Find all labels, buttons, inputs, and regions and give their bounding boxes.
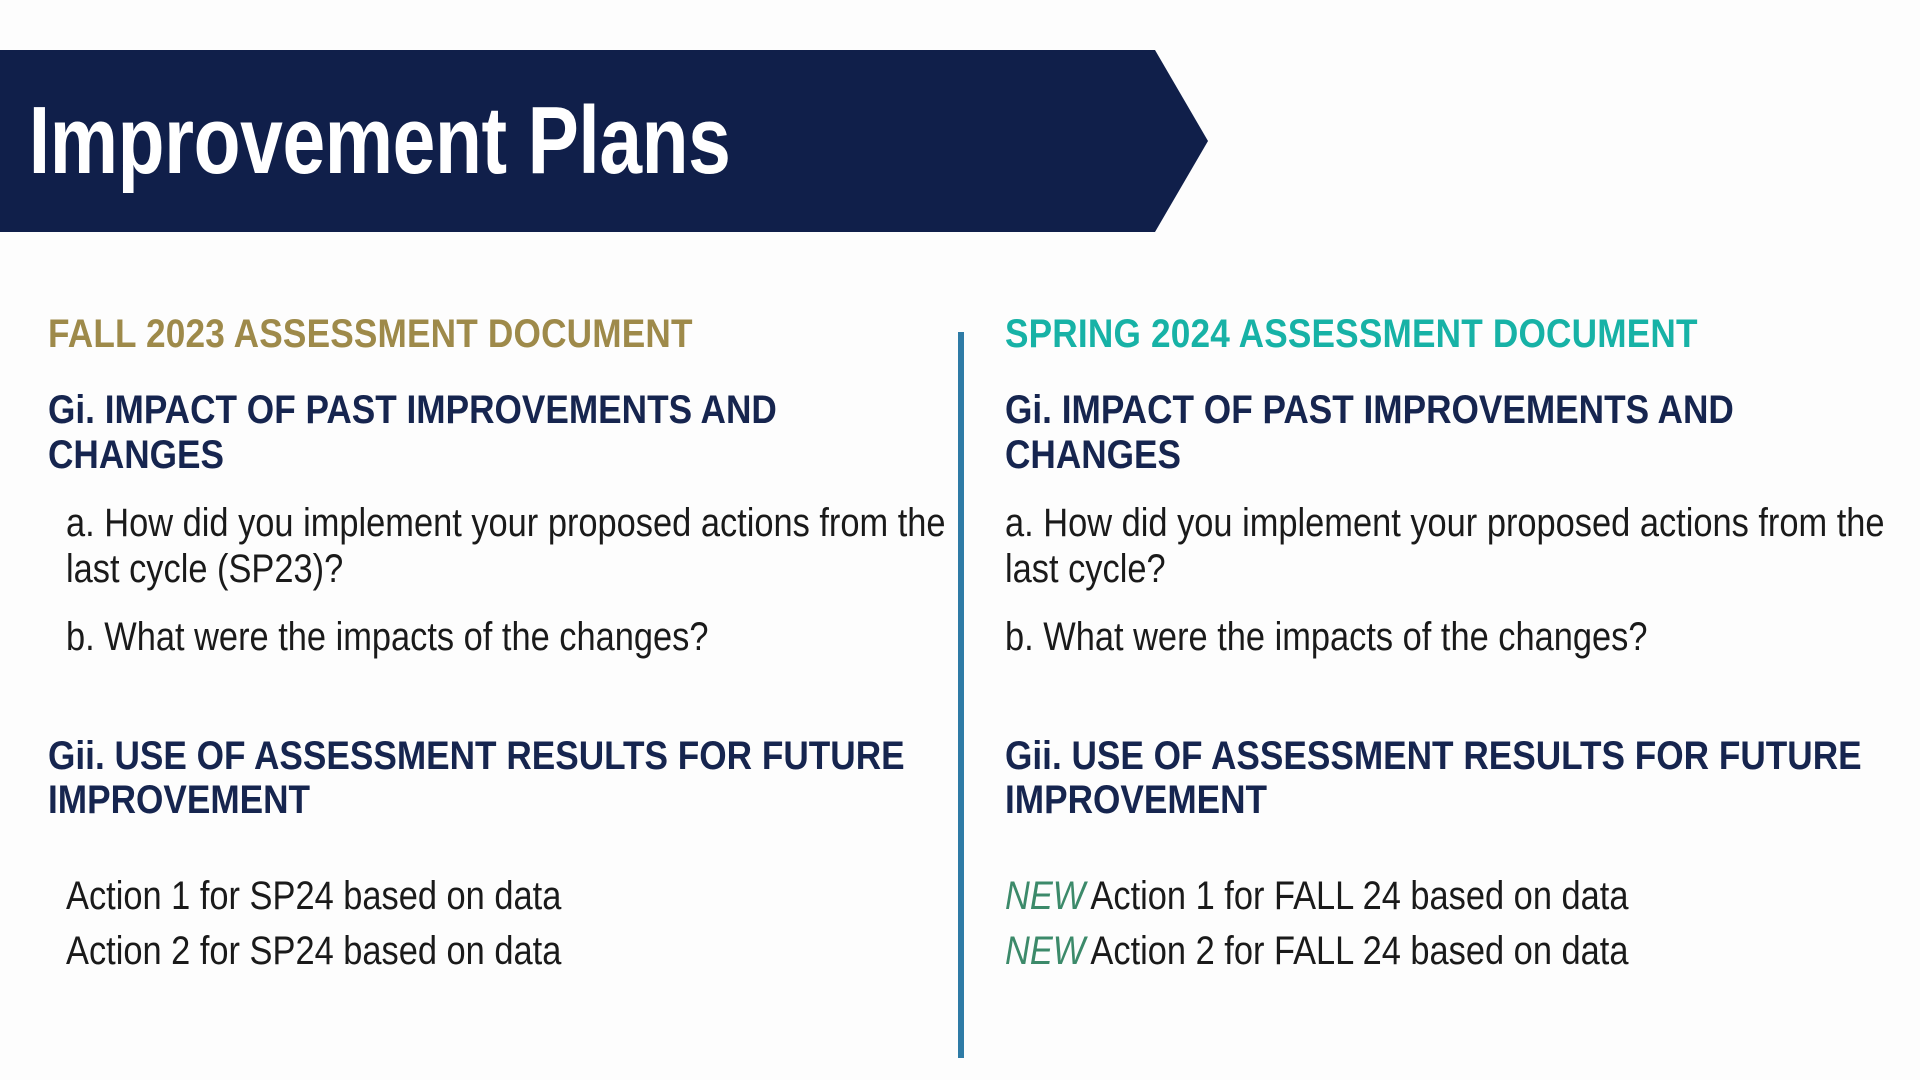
section-spacer [48,682,938,734]
action-list-spacer [1005,845,1910,871]
fall-2023-section-gi-item-a: a. How did you implement your proposed a… [66,500,954,592]
section-spacer [1005,682,1910,734]
title-banner: Improvement Plans [0,50,1208,232]
column-divider [958,332,964,1058]
spring-2024-action-2-text: Action 2 for FALL 24 based on data [1090,929,1628,973]
fall-2023-document-header: FALL 2023 ASSESSMENT DOCUMENT [48,312,831,356]
spring-2024-section-gi-item-a: a. How did you implement your proposed a… [1005,500,1908,592]
fall-2023-section-gii-heading: Gii. USE OF ASSESSMENT RESULTS FOR FUTUR… [48,734,933,824]
spring-2024-column: SPRING 2024 ASSESSMENT DOCUMENT Gi. IMPA… [1005,312,1910,982]
spring-2024-action-2: NEWAction 2 for FALL 24 based on data [1005,926,1908,977]
fall-2023-section-gi-heading: Gi. IMPACT OF PAST IMPROVEMENTS AND CHAN… [48,388,933,478]
action-list-spacer [48,845,938,871]
fall-2023-column: FALL 2023 ASSESSMENT DOCUMENT Gi. IMPACT… [48,312,938,982]
new-badge: NEW [1005,929,1090,973]
spring-2024-action-1: NEWAction 1 for FALL 24 based on data [1005,871,1908,922]
comparison-columns: FALL 2023 ASSESSMENT DOCUMENT Gi. IMPACT… [0,312,1920,1080]
fall-2023-action-2: Action 2 for SP24 based on data [66,926,954,977]
page-title: Improvement Plans [0,93,730,189]
spring-2024-section-gi-heading: Gi. IMPACT OF PAST IMPROVEMENTS AND CHAN… [1005,388,1905,478]
spring-2024-action-1-text: Action 1 for FALL 24 based on data [1090,874,1628,918]
spring-2024-document-header: SPRING 2024 ASSESSMENT DOCUMENT [1005,312,1801,356]
spring-2024-section-gii-heading: Gii. USE OF ASSESSMENT RESULTS FOR FUTUR… [1005,734,1905,824]
new-badge: NEW [1005,874,1090,918]
fall-2023-action-1: Action 1 for SP24 based on data [66,871,954,922]
spring-2024-section-gi-item-b: b. What were the impacts of the changes? [1005,614,1908,660]
fall-2023-section-gi-item-b: b. What were the impacts of the changes? [66,614,954,660]
